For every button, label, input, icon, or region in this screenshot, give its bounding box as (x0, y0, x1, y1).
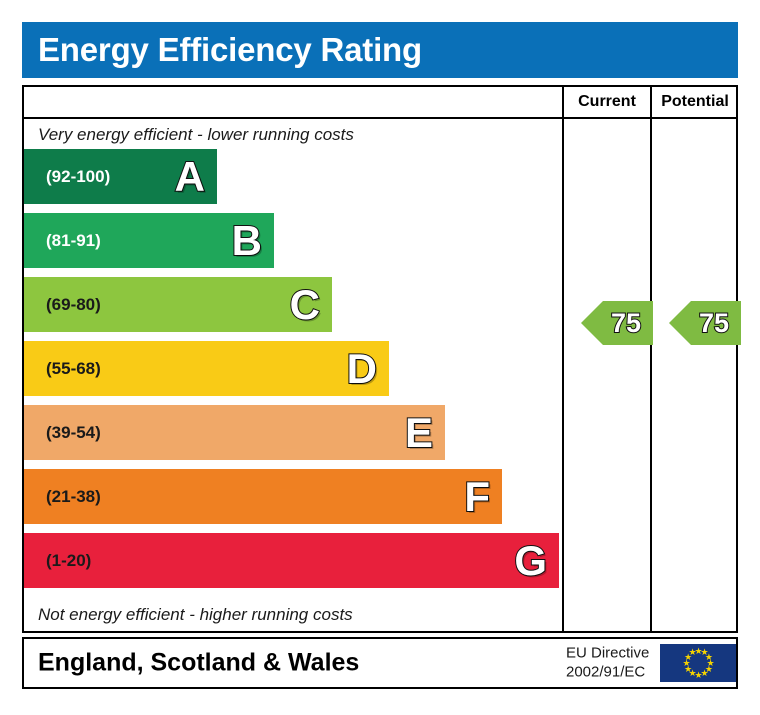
band-letter-d: D (347, 348, 377, 390)
band-letter-b: B (232, 220, 262, 262)
band-range-b: (81-91) (46, 231, 101, 251)
band-b: (81-91)B (24, 213, 274, 268)
band-letter-e: E (405, 412, 433, 454)
eu-flag-star-icon: ★ (689, 649, 696, 656)
band-letter-f: F (464, 476, 490, 518)
band-range-e: (39-54) (46, 423, 101, 443)
page-title: Energy Efficiency Rating (38, 31, 422, 69)
caption-efficient: Very energy efficient - lower running co… (38, 125, 354, 145)
footer-directive-line2: 2002/91/EC (566, 663, 649, 682)
rating-value-current: 75 (611, 310, 653, 337)
footer-directive: EU Directive 2002/91/EC (566, 644, 649, 682)
rating-arrow-potential: 75 (669, 301, 741, 345)
energy-efficiency-rating-chart: Energy Efficiency Rating Current Potenti… (0, 0, 760, 715)
rating-table: Current Potential Very energy efficient … (22, 85, 738, 633)
footer-directive-line1: EU Directive (566, 644, 649, 663)
band-c: (69-80)C (24, 277, 332, 332)
column-divider-1 (562, 87, 564, 631)
band-letter-g: G (514, 540, 547, 582)
band-range-d: (55-68) (46, 359, 101, 379)
eu-flag-icon: ★★★★★★★★★★★★ (660, 644, 736, 682)
column-header-current: Current (564, 87, 650, 117)
band-list: (92-100)A(81-91)B(69-80)C(55-68)D(39-54)… (24, 149, 562, 601)
rating-value-potential: 75 (699, 310, 741, 337)
column-header-potential: Potential (652, 87, 738, 117)
footer-bar: England, Scotland & Wales EU Directive 2… (22, 637, 738, 689)
band-f: (21-38)F (24, 469, 502, 524)
band-range-f: (21-38) (46, 487, 101, 507)
caption-inefficient: Not energy efficient - higher running co… (38, 605, 353, 625)
band-letter-c: C (290, 284, 320, 326)
column-header-row: Current Potential (24, 87, 736, 119)
band-range-a: (92-100) (46, 167, 110, 187)
footer-region-label: England, Scotland & Wales (38, 649, 359, 678)
band-e: (39-54)E (24, 405, 445, 460)
band-range-c: (69-80) (46, 295, 101, 315)
rating-arrow-current: 75 (581, 301, 653, 345)
column-divider-2 (650, 87, 652, 631)
band-letter-a: A (175, 156, 205, 198)
band-a: (92-100)A (24, 149, 217, 204)
band-d: (55-68)D (24, 341, 389, 396)
band-g: (1-20)G (24, 533, 559, 588)
chart-title-bar: Energy Efficiency Rating (22, 22, 738, 78)
band-range-g: (1-20) (46, 551, 91, 571)
